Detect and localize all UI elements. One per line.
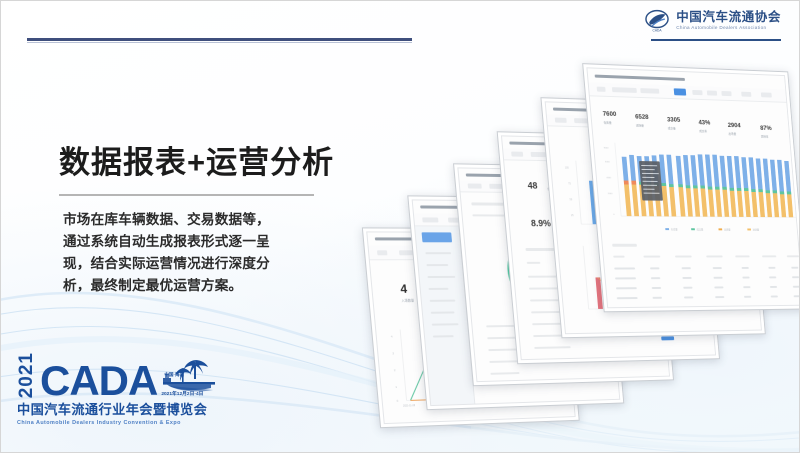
svg-text:1: 1 bbox=[395, 385, 397, 389]
dashboard-screenshot-stack: 4 入场数量 4 出场数量 43 210 bbox=[367, 31, 797, 431]
kpi-label: 入场数量 bbox=[401, 298, 414, 303]
svg-text:25: 25 bbox=[571, 215, 574, 217]
svg-text:2021-11-28: 2021-11-28 bbox=[403, 405, 416, 407]
dashboard-card-overview[interactable]: 7600 在库量 6528 进场量 3305 成交量 43% 成交率 2904 … bbox=[582, 63, 800, 312]
page-title: 数据报表+运营分析 bbox=[59, 137, 334, 182]
body-paragraph: 市场在库车辆数据、交易数据等， 通过系统自动生成报表形式逐一呈 现，结合实际运营… bbox=[63, 209, 321, 297]
svg-text:6000: 6000 bbox=[605, 161, 611, 163]
svg-text:出场量: 出场量 bbox=[724, 227, 731, 231]
kpi-value: 7600 bbox=[603, 111, 617, 118]
event-date: 2021年12月2日-4日 bbox=[161, 390, 203, 397]
svg-text:2000: 2000 bbox=[608, 193, 614, 195]
filter-tab-active[interactable] bbox=[674, 88, 687, 95]
svg-text:4: 4 bbox=[391, 335, 393, 339]
event-name-en: China Automobile Dealers Industry Conven… bbox=[17, 420, 222, 426]
presentation-slide: CADA 中国汽车流通协会 China Automobile Dealers A… bbox=[0, 0, 800, 453]
svg-text:50: 50 bbox=[570, 199, 573, 201]
event-location: 中国·海口 bbox=[164, 372, 184, 378]
kpi-label: 成交量 bbox=[668, 126, 676, 130]
sidebar-active-item[interactable] bbox=[422, 232, 452, 242]
kpi-value: 43% bbox=[698, 119, 710, 126]
kpi-value: 3305 bbox=[667, 116, 681, 123]
association-name-cn: 中国汽车流通协会 bbox=[676, 11, 781, 24]
svg-text:0: 0 bbox=[613, 214, 615, 216]
title-divider bbox=[59, 194, 314, 196]
cada-swoosh-logo-icon: CADA bbox=[644, 9, 670, 33]
event-logo: 2021 CADA bbox=[17, 352, 222, 426]
palm-tree-icon: 中国·海口 2021年12月2日-4日 bbox=[161, 356, 217, 398]
kpi-value: 6528 bbox=[635, 114, 649, 121]
svg-text:75: 75 bbox=[568, 183, 571, 185]
kpi-value: 87% bbox=[760, 125, 772, 132]
body-line: 通过系统自动生成报表形式逐一呈 bbox=[63, 231, 321, 253]
event-wordmark: CADA bbox=[40, 364, 157, 398]
svg-text:进场量: 进场量 bbox=[753, 227, 760, 231]
svg-text:成交量: 成交量 bbox=[697, 227, 705, 231]
svg-text:3: 3 bbox=[392, 351, 394, 355]
association-logo: CADA 中国汽车流通协会 China Automobile Dealers A… bbox=[644, 9, 781, 33]
kpi-value: 2904 bbox=[728, 122, 741, 129]
event-year: 2021 bbox=[17, 352, 36, 398]
svg-text:0: 0 bbox=[396, 399, 398, 403]
kpi-label: 在库量 bbox=[603, 121, 611, 125]
event-name-cn: 中国汽车流通行业年会暨博览会 bbox=[17, 399, 222, 418]
body-line: 市场在库车辆数据、交易数据等， bbox=[63, 209, 321, 231]
kpi-value: 8.9% bbox=[531, 218, 552, 228]
kpi-label: 成交率 bbox=[699, 129, 707, 133]
top-accent-rule bbox=[27, 38, 412, 41]
body-line: 析，最终制定最优运营方案。 bbox=[63, 275, 321, 297]
kpi-label: 出场量 bbox=[728, 132, 736, 136]
kpi-label: 周转率 bbox=[761, 135, 769, 139]
body-line: 现，结合实际运营情况进行深度分 bbox=[63, 253, 321, 275]
svg-text:在库量: 在库量 bbox=[671, 227, 679, 231]
svg-text:100: 100 bbox=[565, 167, 570, 169]
svg-text:2: 2 bbox=[394, 368, 396, 372]
stacked-bar-chart: 80006000 400020000 bbox=[599, 140, 799, 236]
svg-text:4000: 4000 bbox=[606, 177, 612, 179]
kpi-value: 48 bbox=[527, 181, 538, 191]
top-accent-rule-thin bbox=[27, 42, 412, 43]
kpi-label: 进场量 bbox=[636, 123, 644, 127]
kpi-value: 4 bbox=[400, 282, 408, 296]
svg-text:8000: 8000 bbox=[604, 147, 610, 149]
chart-tooltip bbox=[639, 161, 663, 201]
